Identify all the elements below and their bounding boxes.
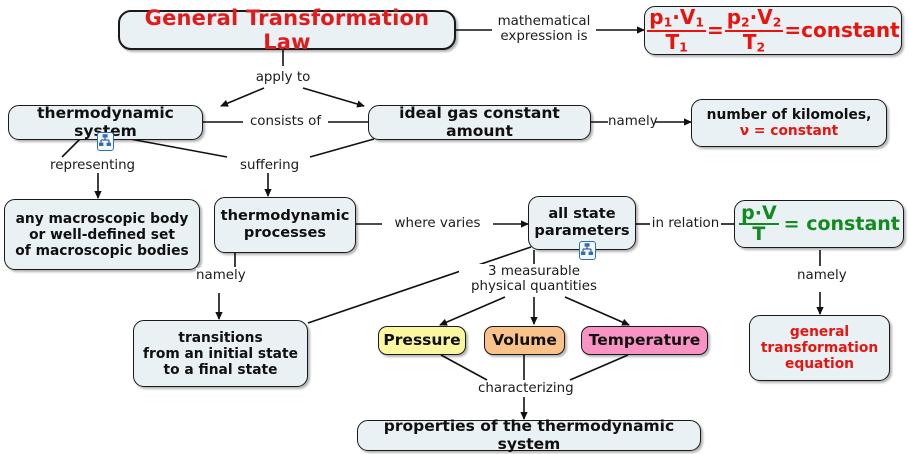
macroscopic-line-1: any macroscopic body: [16, 211, 189, 227]
node-general-transformation-law[interactable]: General Transformation Law: [118, 10, 456, 50]
equals-constant: =constant: [784, 19, 899, 42]
node-general-transformation-equation[interactable]: general transformation equation: [749, 315, 890, 381]
fraction-pvt: p·V T: [739, 204, 779, 245]
state-parameters-line-2: parameters: [534, 223, 629, 240]
edge-label-consists-of: consists of: [243, 114, 328, 129]
formula-pvt-expression: p·V T = constant: [738, 204, 900, 245]
general-eq-line-3: equation: [785, 356, 854, 372]
node-thermodynamic-system[interactable]: thermodynamic system: [8, 105, 203, 140]
edge-label-characterizing: characterizing: [478, 381, 571, 396]
macroscopic-line-3: of macroscopic bodies: [15, 243, 188, 259]
kilomoles-line-2: ν = constant: [740, 123, 839, 139]
math-expr-line-2: expression is: [492, 29, 596, 44]
node-volume[interactable]: Volume: [484, 326, 565, 355]
transitions-line-1: transitions: [178, 330, 262, 346]
fraction-2: p2·V2 T2: [725, 7, 784, 54]
node-title-label: General Transformation Law: [128, 6, 446, 55]
processes-line-2: processes: [244, 225, 326, 242]
processes-line-1: thermodynamic: [221, 208, 350, 225]
edge-label-where-varies: where varies: [382, 216, 493, 231]
node-transitions[interactable]: transitions from an initial state to a f…: [133, 320, 308, 387]
measurable-line-1: 3 measurable: [459, 264, 609, 279]
edge-label-in-relation: in relation: [650, 216, 721, 231]
edge-label-apply-to: apply to: [254, 70, 312, 85]
formula-main-expression: p1·V1 T1 = p2·V2 T2 =constant: [646, 7, 899, 54]
transitions-line-3: to a final state: [164, 362, 278, 378]
node-pressure[interactable]: Pressure: [378, 326, 466, 355]
fraction-1: p1·V1 T1: [647, 7, 706, 54]
temperature-label: Temperature: [589, 332, 701, 350]
properties-label: properties of the thermodynamic system: [366, 418, 692, 454]
node-ideal-gas-constant-amount[interactable]: ideal gas constant amount: [368, 105, 591, 140]
equals-sign-1: =: [707, 19, 724, 42]
pvt-equals-constant: = constant: [784, 213, 900, 235]
concept-map-canvas: General Transformation Law p1·V1 T1 = p2…: [0, 0, 909, 454]
node-thermodynamic-processes[interactable]: thermodynamic processes: [214, 197, 356, 253]
node-number-of-kilomoles[interactable]: number of kilomoles, ν = constant: [691, 99, 887, 147]
volume-label: Volume: [492, 332, 557, 350]
node-ideal-gas-label: ideal gas constant amount: [377, 105, 582, 141]
pvt-numerator: p·V: [739, 204, 779, 223]
hierarchy-tree-icon[interactable]: [97, 132, 114, 151]
edge-label-namely-pvt: namely: [797, 268, 844, 283]
state-parameters-line-1: all state: [548, 206, 615, 223]
node-macroscopic-body[interactable]: any macroscopic body or well-defined set…: [4, 199, 200, 270]
node-temperature[interactable]: Temperature: [581, 326, 708, 355]
edge-label-3-measurable-physical-quantities: 3 measurable physical quantities: [459, 264, 609, 294]
edge-label-representing: representing: [50, 158, 135, 173]
edge-label-namely-gas: namely: [608, 114, 655, 129]
edge-label-namely-processes: namely: [196, 268, 243, 283]
node-properties-of-system[interactable]: properties of the thermodynamic system: [357, 420, 701, 451]
general-eq-line-1: general: [790, 324, 849, 340]
hierarchy-tree-icon[interactable]: [579, 241, 596, 260]
kilomoles-line-1: number of kilomoles,: [707, 107, 872, 123]
edge-label-mathematical-expression-is: mathematical expression is: [492, 14, 596, 44]
transitions-line-2: from an initial state: [143, 346, 298, 362]
pressure-label: Pressure: [383, 332, 460, 350]
edge-label-suffering: suffering: [240, 158, 298, 173]
node-pvt-constant-formula[interactable]: p·V T = constant: [734, 200, 904, 248]
pvt-denominator: T: [739, 223, 779, 244]
general-eq-line-2: transformation: [761, 340, 878, 356]
math-expr-line-1: mathematical: [492, 14, 596, 29]
measurable-line-2: physical quantities: [459, 279, 609, 294]
node-all-state-parameters[interactable]: all state parameters: [528, 196, 636, 250]
macroscopic-line-2: or well-defined set: [29, 227, 175, 243]
node-main-formula[interactable]: p1·V1 T1 = p2·V2 T2 =constant: [644, 6, 902, 55]
